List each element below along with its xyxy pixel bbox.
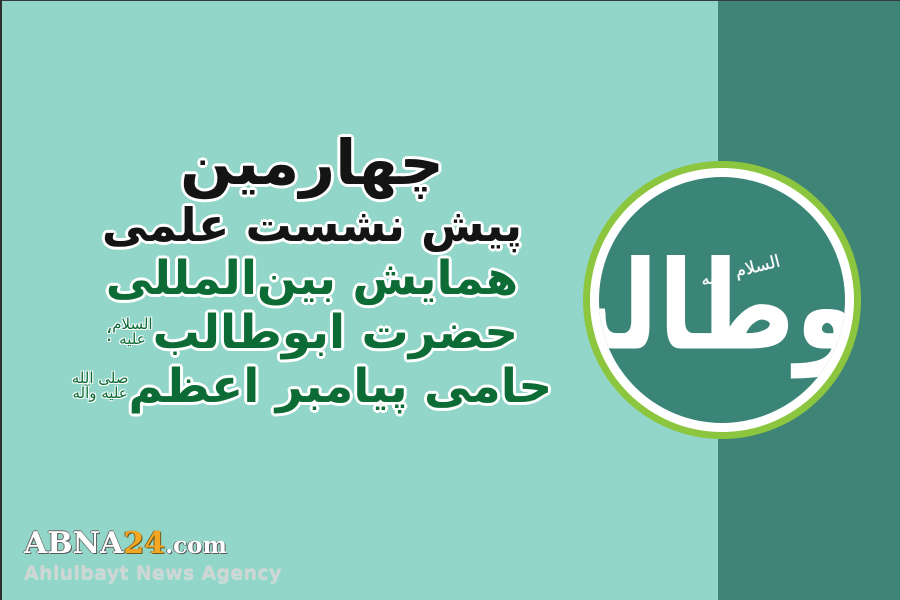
agency-logo-text: ABNA24.com <box>24 529 282 559</box>
agency-logo-abna: ABNA <box>24 526 123 561</box>
headline-line-5: حامی پیامبر اعظمصلی اللهعلیه وآله <box>62 363 562 411</box>
headline-line-2: پیش نشست علمی <box>62 202 562 249</box>
headline-line-4-honorific-bottom: علیه <box>112 332 152 347</box>
headline-line-5-text: حامی پیامبر اعظم <box>128 359 552 414</box>
agency-logo-dotcom: .com <box>165 532 227 559</box>
headline-line-4-text: حضرت ابوطالب <box>153 305 519 360</box>
agency-watermark: ABNA24.com Ahlulbayt News Agency <box>24 529 282 584</box>
headline-line-4-suffix: ؛ <box>106 324 112 344</box>
headline-line-5-honorific-bottom: علیه وآله <box>72 386 129 401</box>
headline-line-4: حضرت ابوطالبالسلامعلیه؛ <box>62 309 562 357</box>
agency-logo-24: 24 <box>123 526 165 561</box>
headline-line-1: چهارمین <box>62 131 562 194</box>
abu-talib-medallion-logo: ابوطالب السلام علیه <box>583 161 861 439</box>
headline-line-5-honorific: صلی اللهعلیه وآله <box>72 371 129 401</box>
headline-line-3: همایش بین‌المللی <box>62 255 562 303</box>
agency-subtitle: Ahlulbayt News Agency <box>24 562 282 584</box>
medallion-inner-disc: ابوطالب السلام علیه <box>599 177 845 423</box>
headline-block: چهارمین پیش نشست علمی همایش بین‌المللی ح… <box>62 131 562 411</box>
medallion-white-ring: ابوطالب السلام علیه <box>590 168 854 432</box>
medallion-calligraphy-text: ابوطالب <box>599 245 845 368</box>
poster-canvas: ابوطالب السلام علیه چهارمین پیش نشست علم… <box>0 0 900 600</box>
headline-line-4-honorific: السلامعلیه <box>112 317 152 347</box>
